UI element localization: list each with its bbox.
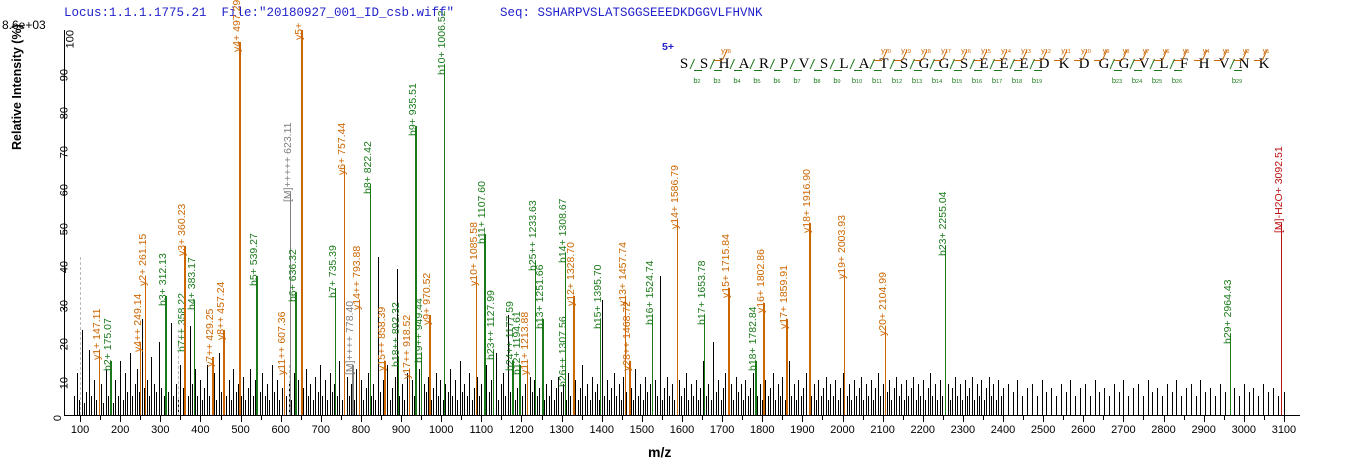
spectrum-peak: [1273, 388, 1274, 415]
y-ion-bar: [1254, 60, 1262, 61]
spectrum-peak: [260, 392, 261, 415]
spectrum-peak: [803, 388, 804, 415]
spectrum-peak: [188, 396, 189, 415]
annotated-peak[interactable]: [140, 342, 141, 415]
annotated-peak[interactable]: [444, 65, 445, 415]
spectrum-peak: [549, 396, 550, 415]
spectrum-peak: [691, 384, 692, 415]
annotated-peak[interactable]: [295, 292, 296, 415]
spectrum-peak: [849, 384, 850, 415]
y-ion-bar: [1034, 60, 1042, 61]
y-axis-label: Relative Intensity (%): [10, 24, 24, 150]
y-ion-bar: [934, 60, 942, 61]
spectrum-peak: [366, 388, 367, 415]
spectrum-peak: [748, 396, 749, 415]
spectrum-peak: [1123, 380, 1124, 415]
b-ion-label: b23: [1112, 76, 1122, 85]
x-axis-label: m/z: [648, 444, 671, 460]
spectrum-peak: [1239, 396, 1240, 415]
spectrum-peak: [570, 396, 571, 415]
spectrum-peak: [1003, 388, 1004, 415]
spectrum-peak: [462, 392, 463, 415]
spectrum-peak: [913, 377, 914, 416]
x-axis-tick-label: 2500: [1031, 424, 1055, 436]
spectrum-peak: [753, 373, 754, 415]
spectrum-peak: [974, 400, 975, 415]
locus-file-header: Locus:1.1.1.1775.21 File:"20180927_001_I…: [64, 6, 454, 20]
x-axis-tick-label: 1700: [710, 424, 734, 436]
spectrum-peak: [595, 392, 596, 415]
reference-dashed-line: [80, 257, 82, 415]
spectrum-peak: [828, 400, 829, 415]
spectrum-peak: [937, 400, 938, 415]
spectrum-peak: [426, 392, 427, 415]
b-ion-label: b5: [753, 76, 760, 85]
b-ion-tick: [770, 59, 775, 69]
peak-label: b29+ 2964.43: [1222, 280, 1234, 345]
peak-label: b18+ 1782.84: [747, 307, 759, 372]
spectrum-viewer: Locus:1.1.1.1775.21 File:"20180927_001_I…: [0, 0, 1362, 473]
spectrum-peak: [481, 384, 482, 415]
spectrum-peak: [635, 369, 636, 415]
annotated-peak[interactable]: [573, 296, 574, 415]
ladder-residue: K: [1059, 56, 1070, 73]
spectrum-peak: [1162, 396, 1163, 415]
spectrum-peak: [940, 380, 941, 415]
peak-label: b10+ 1006.52: [436, 10, 448, 75]
spectrum-peak: [106, 369, 107, 415]
spectrum-peak: [894, 388, 895, 415]
spectrum-peak: [950, 400, 951, 415]
spectrum-peak: [361, 380, 362, 415]
spectrum-peak: [339, 361, 340, 415]
spectrum-peak: [354, 400, 355, 415]
spectrum-peak: [1061, 384, 1062, 415]
spectrum-peak: [1008, 384, 1009, 415]
spectrum-peak: [1258, 396, 1259, 415]
annotated-peak[interactable]: [1281, 223, 1282, 416]
b-ion-label: b18: [1012, 76, 1022, 85]
peak-label: y17+ 1859.91: [778, 265, 790, 329]
y-axis-tick-label: 30: [58, 300, 70, 312]
spectrum-peak: [723, 388, 724, 415]
spectrum-peak: [918, 384, 919, 415]
y-ion-bar: [894, 60, 902, 61]
spectrum-peak: [899, 396, 900, 415]
spectrum-peak: [765, 380, 766, 415]
y-axis-tick-label: 90: [58, 69, 70, 81]
spectrum-peak: [159, 342, 160, 415]
spectrum-peak: [277, 380, 278, 415]
spectrum-peak: [773, 373, 774, 415]
b-ion-bar: [1034, 70, 1042, 71]
spectrum-peak: [154, 384, 155, 415]
spectrum-peak: [561, 392, 562, 415]
spectrum-peak: [392, 388, 393, 415]
spectrum-peak: [700, 388, 701, 415]
peak-label: y12+ 1328.70: [565, 242, 577, 306]
spectrum-peak: [84, 403, 85, 415]
b-ion-label: b29: [1232, 76, 1242, 85]
peak-label: y6+ 757.44: [336, 122, 348, 174]
spectrum-peak: [880, 396, 881, 415]
peak-label: y4+ 497.29: [231, 0, 243, 52]
x-axis-minor-tick: [1063, 416, 1064, 420]
ladder-residue: G: [1099, 56, 1110, 73]
peak-label: b17+ 1653.78: [696, 260, 708, 325]
annotated-peak[interactable]: [359, 300, 360, 416]
spectrum-peak: [660, 276, 661, 415]
x-axis-tick: [1284, 416, 1285, 422]
spectrum-peak: [662, 400, 663, 415]
annotated-peak[interactable]: [239, 42, 240, 415]
x-axis-tick: [160, 416, 161, 422]
spectrum-peak: [806, 373, 807, 415]
y-ion-label: y17: [941, 46, 951, 55]
spectrum-peak: [901, 384, 902, 415]
spectrum-peak: [94, 380, 95, 415]
peak-label: b8+ 822.42: [362, 141, 374, 194]
spectrum-peak: [657, 396, 658, 415]
spectrum-peak: [214, 373, 215, 415]
x-axis-minor-tick: [702, 416, 703, 420]
spectrum-peak: [856, 396, 857, 415]
spectrum-peak: [833, 396, 834, 415]
spectrum-peak: [342, 400, 343, 415]
b-ion-label: b15: [952, 76, 962, 85]
x-axis-minor-tick: [622, 416, 623, 420]
spectrum-peak: [1017, 380, 1018, 415]
spectrum-peak: [838, 400, 839, 415]
y-ion-bar: [974, 60, 982, 61]
spectrum-peak: [325, 380, 326, 415]
x-axis-tick-label: 2700: [1111, 424, 1135, 436]
annotated-peak[interactable]: [370, 184, 371, 415]
spectrum-peak: [889, 380, 890, 415]
spectrum-peak: [537, 396, 538, 415]
spectrum-peak: [1013, 392, 1014, 415]
spectrum-peak: [1133, 388, 1134, 415]
spectrum-peak: [619, 384, 620, 415]
spectrum-peak: [395, 377, 396, 416]
spectrum-peak: [775, 400, 776, 415]
peak-label: y14++ 793.88: [351, 245, 363, 309]
spectrum-peak: [1263, 384, 1264, 415]
annotated-peak[interactable]: [728, 288, 729, 415]
spectrum-peak: [108, 396, 109, 415]
spectrum-peak: [955, 377, 956, 416]
spectrum-peak: [575, 380, 576, 415]
b-ion-label: b10: [852, 76, 862, 85]
spectrum-peak: [180, 365, 181, 415]
y-ion-label: y8: [1123, 46, 1130, 55]
spectrum-peak: [433, 388, 434, 415]
x-axis-minor-tick: [1184, 416, 1185, 420]
spectrum-peak: [505, 396, 506, 415]
spectrum-peak: [741, 384, 742, 415]
spectrum-peak: [436, 373, 437, 415]
spectrum-peak: [402, 384, 403, 415]
peak-label: [M]-H2O+ 3092.51: [1273, 146, 1285, 233]
peak-label: b25++ 1233.63: [527, 200, 539, 271]
spectrum-peak: [204, 388, 205, 415]
peak-label: b5+ 539.27: [248, 234, 260, 287]
spectrum-peak: [1138, 384, 1139, 415]
x-axis-minor-tick: [301, 416, 302, 420]
x-axis-tick: [120, 416, 121, 422]
y-ion-bar: [1054, 60, 1062, 61]
spectrum-peak: [681, 396, 682, 415]
spectrum-peak: [431, 400, 432, 415]
x-axis-tick: [80, 416, 81, 422]
spectrum-peak: [253, 396, 254, 415]
spectrum-peak: [713, 342, 714, 415]
annotated-peak[interactable]: [194, 300, 195, 416]
spectrum-peak: [161, 388, 162, 415]
annotated-peak[interactable]: [335, 288, 336, 415]
b-ion-label: b24: [1132, 76, 1142, 85]
spectrum-peak: [962, 400, 963, 415]
y-ion-label: y6: [1163, 46, 1170, 55]
x-axis-tick: [802, 416, 803, 422]
spectrum-peak: [115, 380, 116, 415]
spectrum-peak: [1152, 392, 1153, 415]
spectrum-peak: [814, 384, 815, 415]
spectrum-peak: [1196, 396, 1197, 415]
spectrum-peak: [419, 369, 420, 415]
x-axis-minor-tick: [1143, 416, 1144, 420]
y-ion-label: y3: [1223, 46, 1230, 55]
y-ion-label: y15: [981, 46, 991, 55]
x-axis-minor-tick: [461, 416, 462, 420]
spectrum-peak: [91, 396, 92, 415]
spectrum-peak: [965, 380, 966, 415]
spectrum-peak: [130, 353, 131, 415]
spectrum-peak: [298, 380, 299, 415]
spectrum-peak: [399, 396, 400, 415]
spectrum-peak: [525, 384, 526, 415]
annotated-peak[interactable]: [145, 276, 146, 415]
x-axis-tick-label: 3000: [1232, 424, 1256, 436]
spectrum-peak: [1205, 392, 1206, 415]
spectrum-peak: [1244, 384, 1245, 415]
annotated-peak[interactable]: [945, 246, 946, 415]
b-ion-bar: [1154, 70, 1162, 71]
spectrum-peak: [479, 396, 480, 415]
b-ion-bar: [1234, 70, 1242, 71]
annotated-peak[interactable]: [677, 219, 678, 415]
x-axis-tick-label: 2400: [991, 424, 1015, 436]
b-ion-label: b25: [1152, 76, 1162, 85]
spectrum-peak: [77, 373, 78, 415]
spectrum-peak: [282, 388, 283, 415]
b-ion-bar: [694, 70, 702, 71]
annotated-peak[interactable]: [429, 315, 430, 415]
spectrum-peak: [1085, 384, 1086, 415]
b-ion-bar: [934, 70, 942, 71]
spectrum-peak: [1080, 388, 1081, 415]
spectrum-peak: [233, 369, 234, 415]
x-axis-tick: [642, 416, 643, 422]
x-axis-tick: [521, 416, 522, 422]
annotated-peak[interactable]: [542, 319, 543, 415]
spectrum-peak: [1249, 392, 1250, 415]
spectrum-peak: [173, 396, 174, 415]
b-ion-bar: [1134, 70, 1142, 71]
x-axis-tick-label: 2600: [1071, 424, 1095, 436]
y-axis-tick-label: 0: [52, 415, 64, 421]
annotated-peak[interactable]: [1230, 334, 1231, 415]
spectrum-peak: [412, 380, 413, 415]
b-ion-tick: [810, 59, 815, 69]
annotated-peak[interactable]: [704, 315, 705, 415]
spectrum-peak: [633, 400, 634, 415]
spectrum-peak: [770, 388, 771, 415]
spectrum-peak: [607, 380, 608, 415]
annotated-peak[interactable]: [786, 319, 787, 415]
peak-label: b13+ 1251.66: [534, 264, 546, 329]
spectrum-peak: [320, 365, 321, 415]
annotated-peak[interactable]: [885, 326, 886, 415]
x-axis-minor-tick: [742, 416, 743, 420]
spectrum-peak: [510, 392, 511, 415]
annotated-peak[interactable]: [652, 315, 653, 415]
annotated-peak[interactable]: [344, 165, 345, 415]
spectrum-peak: [711, 400, 712, 415]
spectrum-peak: [248, 388, 249, 415]
x-axis-tick: [562, 416, 563, 422]
annotated-peak[interactable]: [301, 30, 302, 415]
spectrum-peak: [996, 400, 997, 415]
spectrum-peak: [1027, 388, 1028, 415]
x-axis-tick-label: 1200: [509, 424, 533, 436]
spectrum-peak: [621, 400, 622, 415]
peak-label: b6+ 636.32: [287, 249, 299, 302]
x-axis-minor-tick: [221, 416, 222, 420]
x-axis-tick: [481, 416, 482, 422]
annotated-peak[interactable]: [476, 276, 477, 415]
annotated-peak[interactable]: [256, 276, 257, 415]
annotated-peak[interactable]: [290, 192, 291, 415]
spectrum-peak: [486, 365, 487, 415]
annotated-peak[interactable]: [844, 269, 845, 415]
spectrum-peak: [760, 384, 761, 415]
x-axis-tick: [1164, 416, 1165, 422]
y-axis-tick-label: 10: [58, 377, 70, 389]
spectrum-peak: [489, 392, 490, 415]
spectrum-peak: [640, 384, 641, 415]
peak-label: y3+ 360.23: [176, 203, 188, 255]
spectrum-peak: [226, 396, 227, 415]
x-axis-minor-tick: [261, 416, 262, 420]
b-ion-bar: [1114, 70, 1122, 71]
ladder-residue: S: [680, 56, 688, 73]
spectrum-peak: [1066, 392, 1067, 415]
x-axis-tick: [722, 416, 723, 422]
x-axis-tick-label: 1300: [549, 424, 573, 436]
y-ion-label: y4: [1203, 46, 1210, 55]
annotated-peak[interactable]: [809, 223, 810, 416]
spectrum-peak: [96, 400, 97, 415]
spectrum-peak: [315, 377, 316, 416]
spectrum-peak: [1278, 396, 1279, 415]
spectrum-peak: [1075, 396, 1076, 415]
x-axis-tick-label: 900: [392, 424, 410, 436]
x-axis-tick-label: 1800: [750, 424, 774, 436]
x-axis-tick-label: 300: [151, 424, 169, 436]
y-ion-label: y5: [1183, 46, 1190, 55]
spectrum-peak: [1128, 396, 1129, 415]
annotated-peak[interactable]: [415, 126, 416, 415]
x-axis-tick-label: 1600: [670, 424, 694, 436]
spectrum-peak: [1109, 396, 1110, 415]
spectrum-peak: [686, 373, 687, 415]
x-axis-tick: [682, 416, 683, 422]
peak-label: b4+ 383.17: [186, 257, 198, 310]
y-ion-bar: [1214, 60, 1222, 61]
ladder-residue: D: [1079, 56, 1090, 73]
spectrum-peak: [1186, 388, 1187, 415]
b-ion-tick: [830, 59, 835, 69]
spectrum-peak: [452, 396, 453, 415]
annotated-peak[interactable]: [763, 303, 764, 415]
spectrum-peak: [750, 388, 751, 415]
x-axis-tick: [401, 416, 402, 422]
annotated-peak[interactable]: [600, 319, 601, 415]
peak-label: b3+ 312.13: [157, 253, 169, 306]
spectrum-peak: [250, 369, 251, 415]
spectrum-peak: [967, 396, 968, 415]
spectrum-peak: [125, 373, 126, 415]
spectrum-peak: [1148, 380, 1149, 415]
y-axis-tick-label: 70: [58, 146, 70, 158]
x-axis-tick: [1003, 416, 1004, 422]
peak-label: y15+ 1715.84: [720, 234, 732, 298]
peak-label: y5+: [293, 23, 305, 40]
annotated-peak[interactable]: [165, 296, 166, 415]
spectrum-peak: [279, 400, 280, 415]
spectrum-peak: [906, 380, 907, 415]
y-ion-label: y1: [1263, 46, 1270, 55]
x-axis-minor-tick: [542, 416, 543, 420]
spectrum-peak: [778, 384, 779, 415]
x-axis-minor-tick: [582, 416, 583, 420]
spectrum-peak: [202, 400, 203, 415]
spectrum-peak: [986, 388, 987, 415]
spectrum-peak: [356, 369, 357, 415]
x-axis-tick: [602, 416, 603, 422]
b-ion-bar: [754, 70, 762, 71]
annotated-peak[interactable]: [223, 330, 224, 415]
x-axis-tick: [321, 416, 322, 422]
y-axis-tick-label: 40: [58, 261, 70, 273]
x-axis-tick-label: 2800: [1151, 424, 1175, 436]
x-axis-tick: [241, 416, 242, 422]
b-ion-bar: [894, 70, 902, 71]
spectrum-peak: [467, 396, 468, 415]
spectrum-peak: [1172, 392, 1173, 415]
spectrum-peak: [928, 388, 929, 415]
spectrum-peak: [923, 380, 924, 415]
spectrum-peak: [863, 400, 864, 415]
x-axis-minor-tick: [180, 416, 181, 420]
spectrum-peak: [1200, 380, 1201, 415]
peak-label: y4++ 249.14: [132, 293, 144, 351]
spectrum-peak: [221, 392, 222, 415]
y-ion-label: y20: [881, 46, 891, 55]
spectrum-peak: [925, 400, 926, 415]
y-ion-label: y11: [1061, 46, 1070, 55]
